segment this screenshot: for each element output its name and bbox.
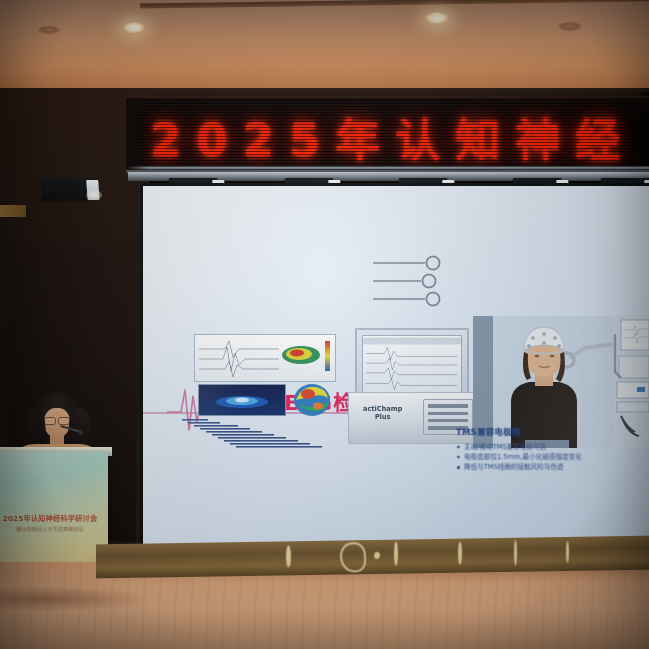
monitor-screen [362, 335, 462, 399]
ceiling-downlight-off [38, 26, 60, 34]
light-reflection [458, 542, 462, 565]
light-reflection [340, 542, 366, 572]
podium-floor-shadow [0, 586, 150, 612]
ceiling-downlight-off [558, 22, 582, 31]
light-reflection [514, 540, 517, 566]
brain-topography-map [292, 382, 332, 418]
ceiling-downlight-on [122, 22, 146, 34]
conference-hall-photo: 2025年认知神经 TMS-EEG检测解决方案 [0, 0, 649, 649]
led-banner-left-fade [126, 98, 148, 170]
led-banner: 2025年认知神经 [126, 96, 649, 170]
light-reflection [394, 542, 398, 566]
podium-banner-subtitle: 脑认知前沿人才交流高峰论坛 [0, 526, 102, 533]
podium-banner-title: 2025年认知神经科学研讨会 [0, 514, 102, 524]
light-reflection [286, 545, 291, 567]
block-cap-heading: TMS兼容电极帽 [456, 426, 646, 438]
list-item: 电极底部仅1.5mm,最小化磁感强度变化 [456, 452, 646, 462]
analysis-software-screenshot [176, 326, 336, 446]
block-tms-compatible-cap: TMS兼容电极帽 主动/被动TMS兼容电极可选 电极底部仅1.5mm,最小化磁感… [456, 426, 646, 473]
amplifier-brand-line2: Plus [375, 413, 391, 421]
list-item: 主动/被动TMS兼容电极可选 [456, 442, 646, 452]
spotlight [41, 178, 91, 200]
list-item: 降低与TMS线圈的接触风险与伪迹 [456, 462, 646, 472]
left-wall-light-strip [0, 205, 26, 217]
ceiling-downlight-on [424, 12, 450, 25]
microphone-icon [78, 430, 83, 435]
light-reflection [374, 552, 380, 559]
presentation-slide: TMS-EEG检测解决方案 [143, 186, 649, 554]
eeg-waveform-window [194, 334, 336, 382]
block-cap-bullets: 主动/被动TMS兼容电极可选 电极底部仅1.5mm,最小化磁感强度变化 降低与T… [456, 442, 646, 473]
time-frequency-plot [198, 384, 286, 416]
amplifier-brand-label: actiChamp Plus [363, 405, 402, 421]
light-reflection [566, 541, 569, 563]
data-file-tree [178, 418, 334, 448]
led-banner-text: 2025年认知神经 [150, 104, 635, 169]
spotlight-glow [86, 190, 102, 200]
ceiling [0, 0, 649, 92]
ring-electrode-illustration [371, 254, 463, 312]
glasses-icon [44, 417, 70, 423]
amplifier-brand-line1: actiChamp [363, 405, 402, 413]
